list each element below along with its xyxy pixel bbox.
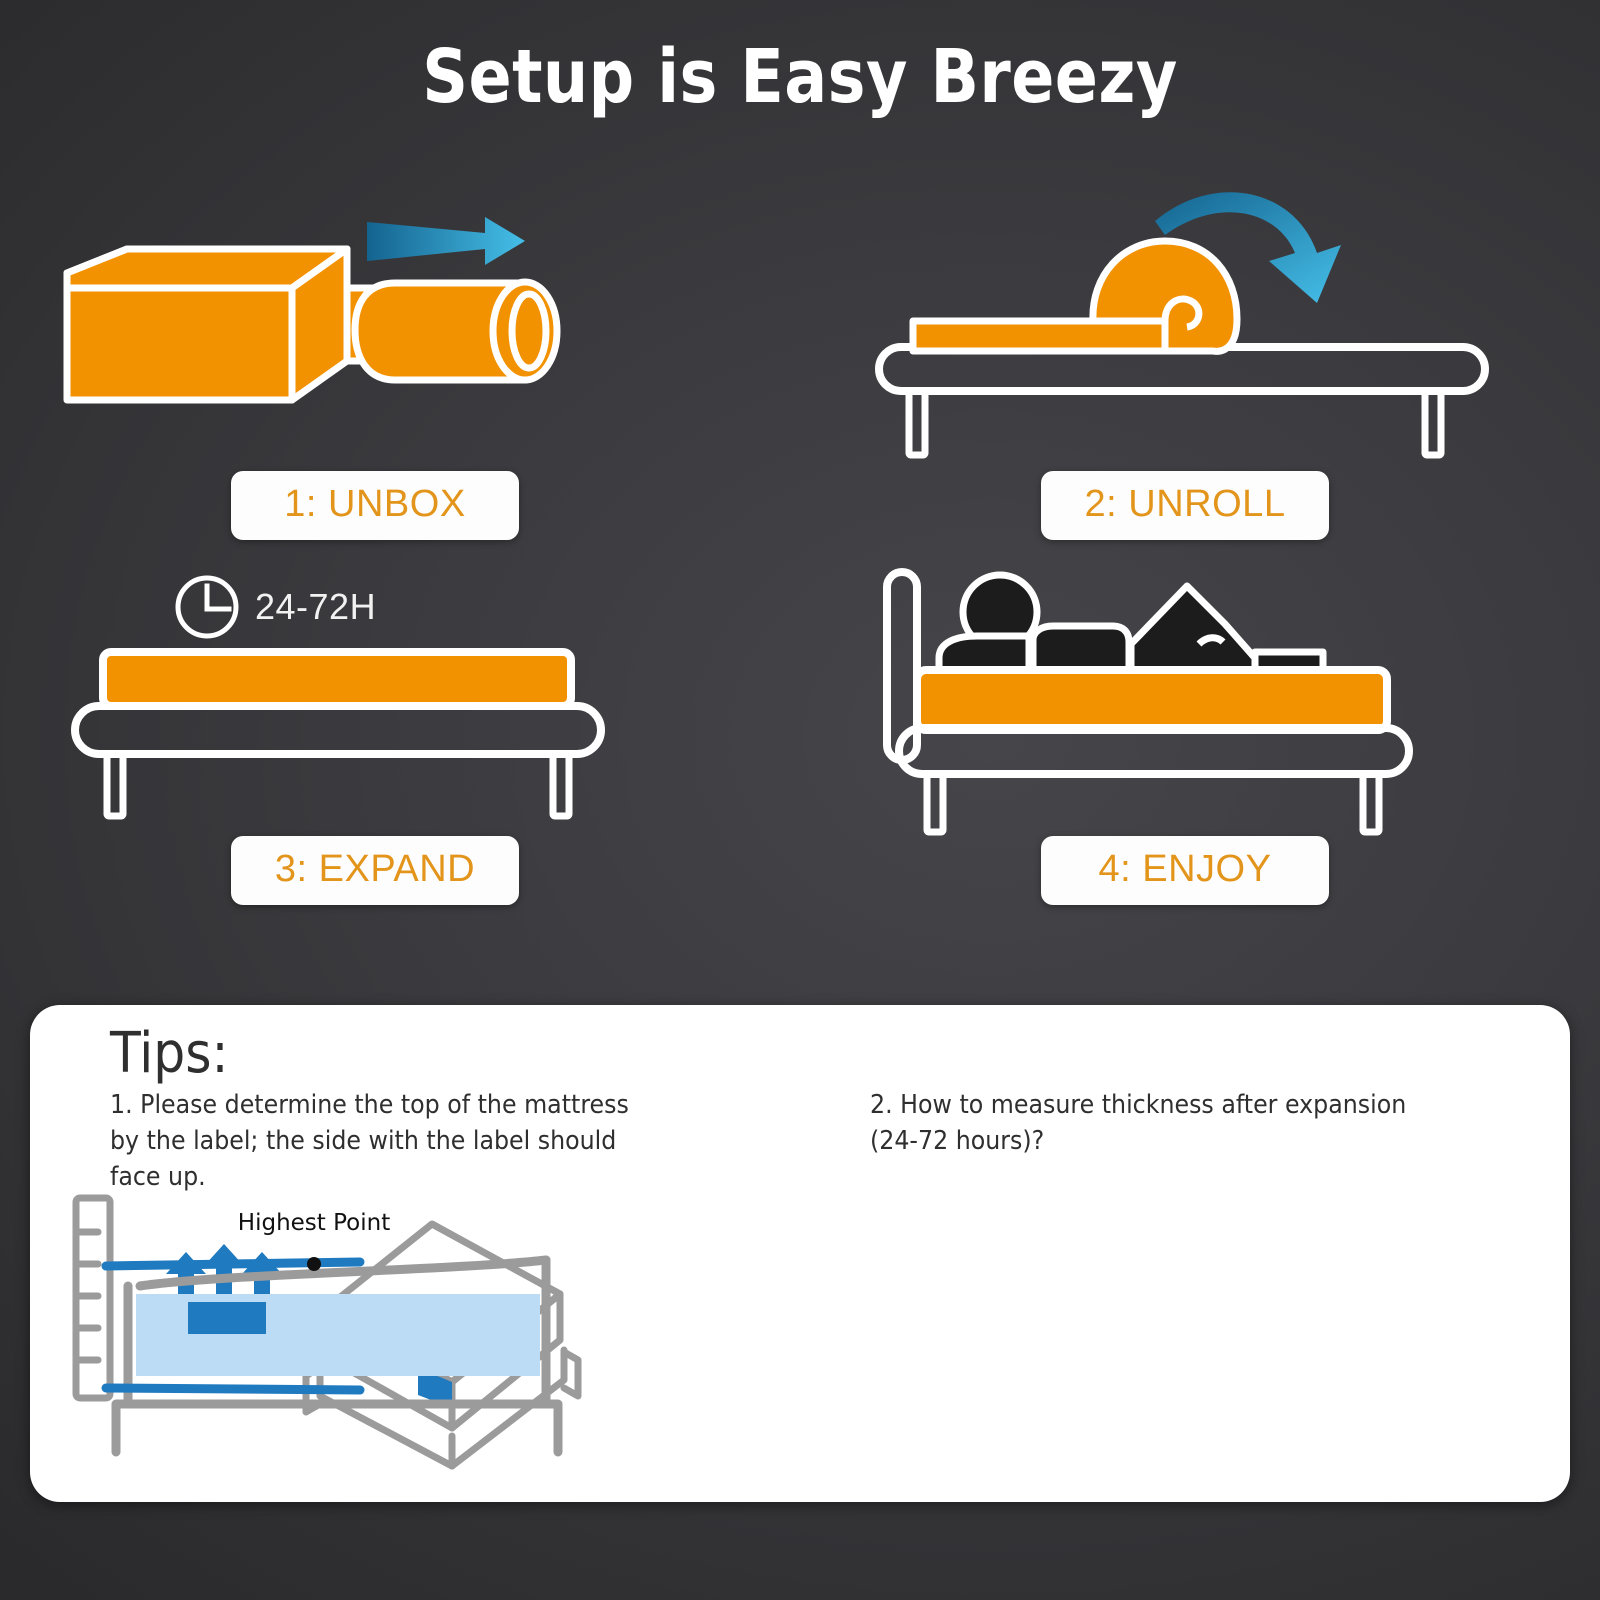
tip-2-text: 2. How to measure thickness after expans…	[870, 1087, 1465, 1159]
flat-mattress-on-bed-icon	[75, 652, 601, 816]
tip-2-illustration: Highest Point	[40, 1190, 600, 1460]
ruler-icon	[76, 1198, 110, 1398]
step-1-label[interactable]: 1: UNBOX	[231, 471, 519, 540]
tips-heading: Tips:	[110, 1021, 228, 1086]
unbox-illustration	[55, 175, 695, 475]
step-2-unroll: 2: UNROLL	[865, 175, 1505, 575]
highest-point-label: Highest Point	[238, 1210, 390, 1236]
rolled-mattress-icon	[347, 282, 557, 380]
person-sleeping-icon	[939, 575, 1323, 670]
page-title: Setup is Easy Breezy	[112, 34, 1488, 120]
expand-illustration	[55, 540, 695, 840]
unrolling-mattress-icon	[913, 241, 1237, 351]
bed-base-icon	[879, 347, 1485, 455]
step-4-enjoy: 4: ENJOY	[865, 540, 1505, 940]
step-4-label[interactable]: 4: ENJOY	[1041, 836, 1329, 905]
infographic-page: Setup is Easy Breezy	[0, 0, 1600, 1600]
tip-2: 2. How to measure thickness after expans…	[870, 1087, 1510, 1159]
enjoy-illustration	[865, 540, 1505, 840]
step-1-unbox: 1: UNBOX	[55, 175, 695, 575]
step-3-label[interactable]: 3: EXPAND	[231, 836, 519, 905]
mattress-label-icon	[188, 1302, 266, 1334]
straight-blue-arrow-right-icon	[367, 217, 525, 265]
tip-1-text: 1. Please determine the top of the mattr…	[110, 1087, 705, 1196]
unroll-illustration	[865, 175, 1505, 475]
step-3-expand: 24-72H 3: EXPAND	[55, 540, 695, 940]
mattress-body-icon	[136, 1294, 540, 1376]
tip-1: 1. Please determine the top of the mattr…	[110, 1087, 750, 1196]
highest-point-dot	[307, 1257, 321, 1271]
step-2-label[interactable]: 2: UNROLL	[1041, 471, 1329, 540]
box-icon	[67, 249, 347, 400]
tips-card: Tips: 1. Please determine the top of the…	[30, 1005, 1570, 1502]
